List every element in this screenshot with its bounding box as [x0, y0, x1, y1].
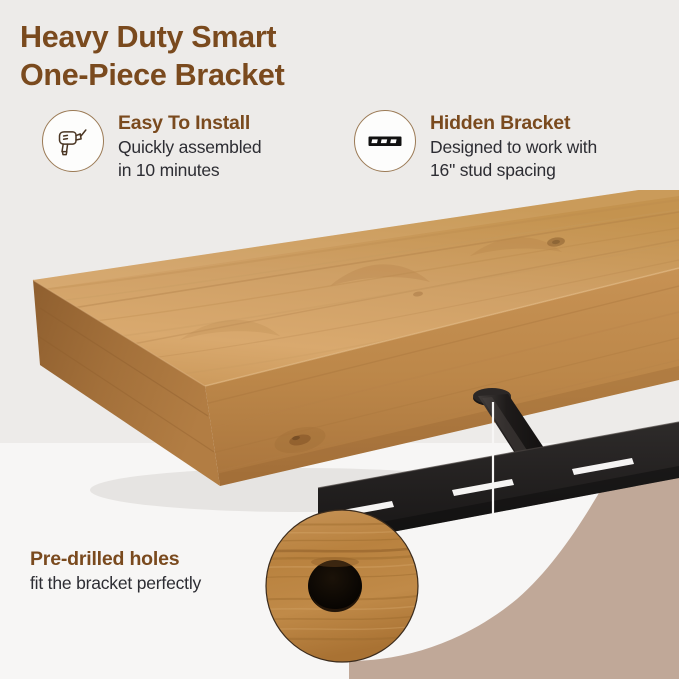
- hidden-bracket-bar-icon: [365, 121, 405, 161]
- feature-title: Hidden Bracket: [430, 112, 597, 135]
- product-infographic: Heavy Duty Smart One-Piece Bracket Easy …: [0, 0, 679, 679]
- feature-subtitle: Quickly assembled in 10 minutes: [118, 136, 261, 182]
- bottom-callout: Pre-drilled holes fit the bracket perfec…: [30, 548, 280, 594]
- bottom-callout-subtitle: fit the bracket perfectly: [30, 573, 280, 594]
- feature-icon-badge: [354, 110, 416, 172]
- page-title: Heavy Duty Smart One-Piece Bracket: [20, 18, 440, 94]
- feature-easy-to-install: Easy To Install Quickly assembled in 10 …: [42, 110, 261, 182]
- feature-title: Easy To Install: [118, 112, 261, 135]
- drill-icon: [54, 122, 92, 160]
- bottom-callout-title: Pre-drilled holes: [30, 548, 280, 571]
- feature-hidden-bracket: Hidden Bracket Designed to work with 16"…: [354, 110, 597, 182]
- feature-icon-badge: [42, 110, 104, 172]
- pre-drilled-hole-magnifier: [264, 508, 420, 664]
- feature-subtitle: Designed to work with 16" stud spacing: [430, 136, 597, 182]
